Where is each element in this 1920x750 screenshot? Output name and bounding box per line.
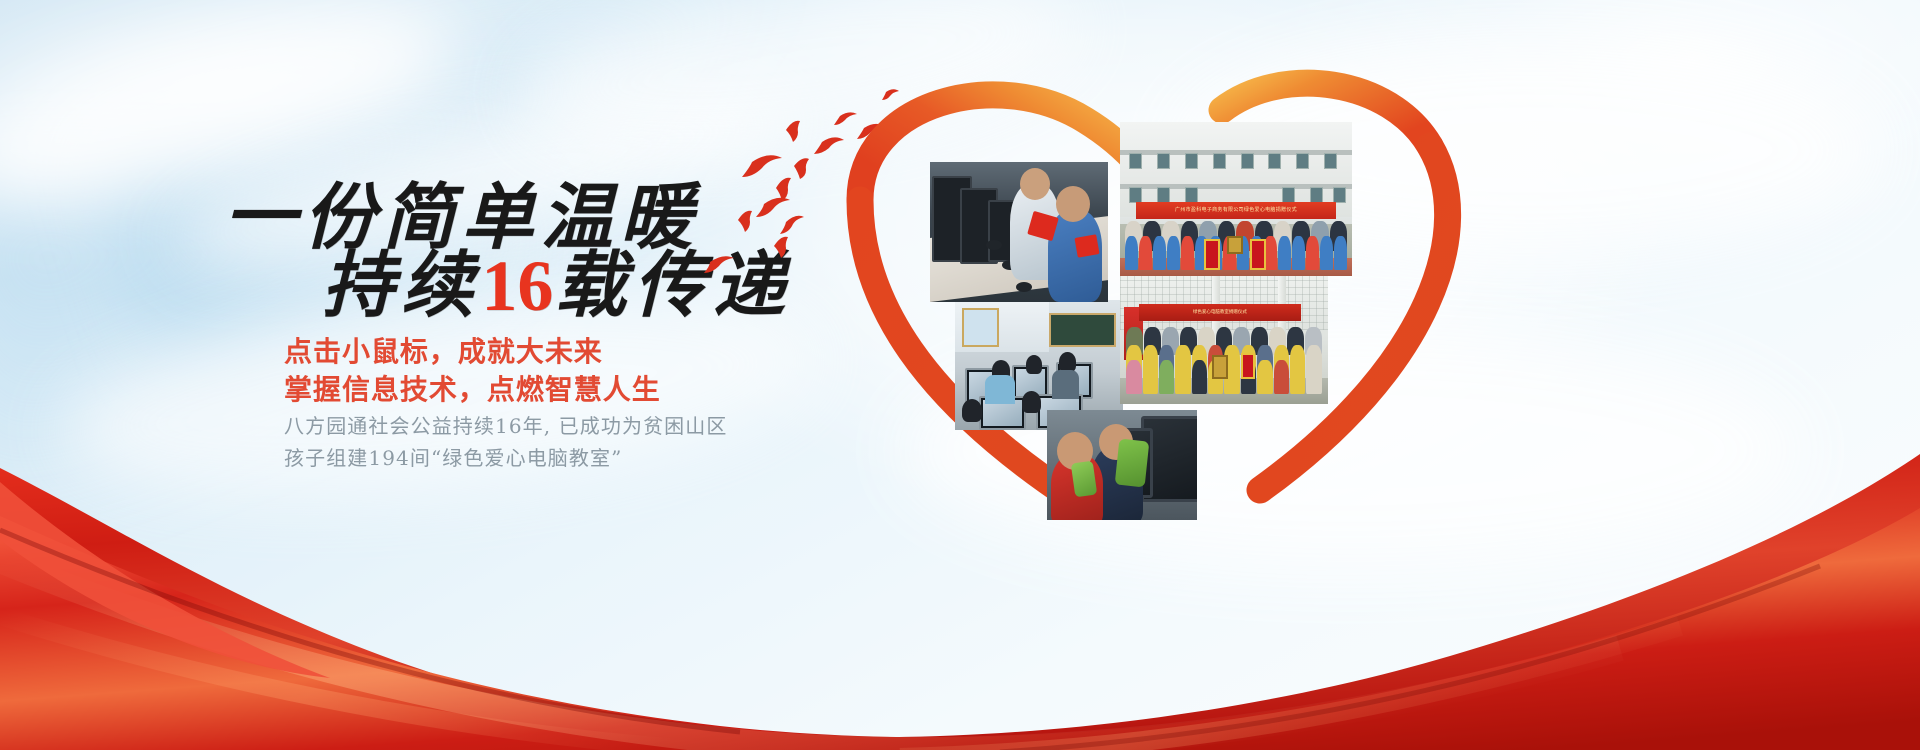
list-item[interactable]: 广州市盈科电子商务有限公司绿色爱心电脑捐赠仪式	[1120, 122, 1352, 276]
headline-line-2-prefix: 持续	[322, 242, 480, 327]
photo-donation-ceremony-group: 绿色爱心电脑教室捐赠仪式	[1120, 276, 1328, 404]
photo-banner-text: 广州市盈科电子商务有限公司绿色爱心电脑捐赠仪式	[1136, 202, 1336, 219]
photo-students-computer-lab	[930, 162, 1108, 302]
subtitle-line-1: 点击小鼠标，成就大未来	[284, 330, 603, 370]
photo-banner-text: 绿色爱心电脑教室捐赠仪式	[1139, 304, 1301, 321]
red-silk-ribbon-icon	[0, 420, 1920, 750]
headline-years-number: 16	[480, 246, 554, 326]
list-item[interactable]: 绿色爱心电脑教室捐赠仪式	[1120, 276, 1328, 404]
photo-donation-ceremony-school: 广州市盈科电子商务有限公司绿色爱心电脑捐赠仪式	[1120, 122, 1352, 276]
charity-banner: 一份简单温暖 持续16载传递 点击小鼠标，成就大未来 掌握信息技术，点燃智慧人生…	[0, 0, 1920, 750]
subtitle-line-2: 掌握信息技术，点燃智慧人生	[284, 368, 661, 408]
list-item[interactable]	[930, 162, 1108, 302]
